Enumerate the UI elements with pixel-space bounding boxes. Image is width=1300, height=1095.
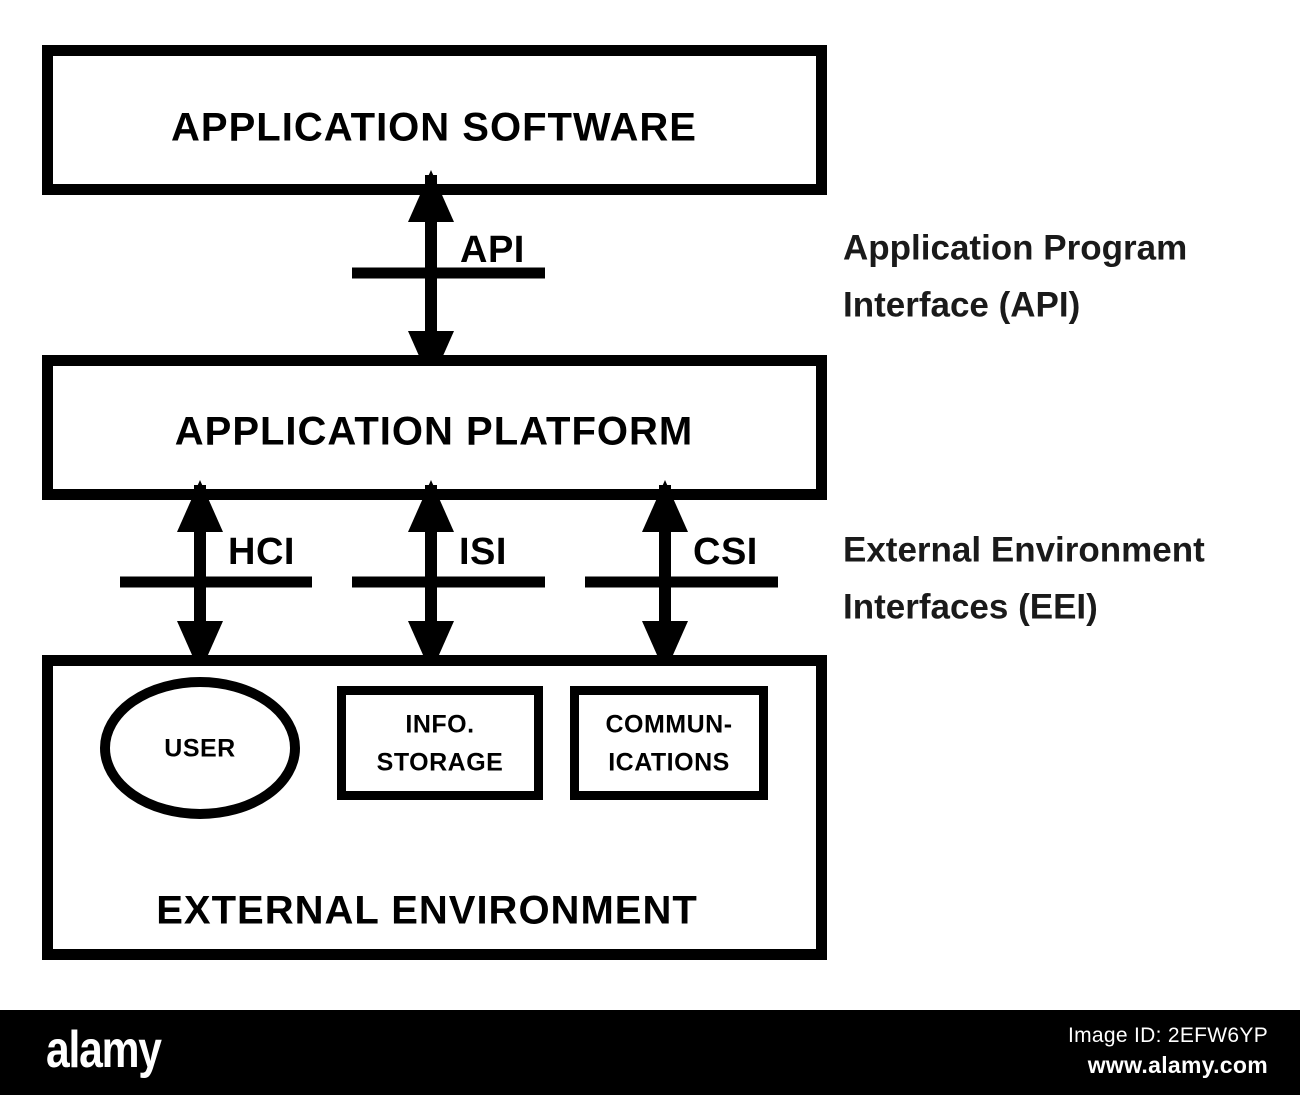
user-label: USER: [164, 735, 235, 763]
application-platform-label: APPLICATION PLATFORM: [175, 410, 693, 454]
external-environment-label: EXTERNAL ENVIRONMENT: [156, 889, 698, 933]
tier-application-platform: APPLICATION PLATFORM: [48, 361, 822, 495]
image-id-text: Image ID: 2EFW6YP: [1068, 1022, 1268, 1050]
eei-annotation-line1: External Environment: [843, 530, 1205, 569]
screenshot-page: APPLICATION SOFTWARE API APPLICATION PLA…: [0, 0, 1300, 1095]
alamy-url-text: www.alamy.com: [1068, 1050, 1268, 1081]
entity-info-storage: INFO. STORAGE: [342, 691, 539, 796]
isi-label: ISI: [459, 531, 507, 573]
annotation-api: Application Program Interface (API): [843, 228, 1187, 324]
info-storage-label-line2: STORAGE: [377, 749, 504, 777]
connector-csi: CSI: [585, 480, 778, 673]
info-storage-box: [342, 691, 539, 796]
entity-communications: COMMUN- ICATIONS: [575, 691, 764, 796]
tier-application-software: APPLICATION SOFTWARE: [48, 51, 822, 190]
alamy-watermark-bar: alamy Image ID: 2EFW6YP www.alamy.com: [0, 1010, 1300, 1095]
info-storage-label-line1: INFO.: [405, 711, 474, 739]
connector-api: API: [352, 170, 545, 383]
connector-hci: HCI: [120, 480, 312, 673]
communications-label-line2: ICATIONS: [608, 749, 730, 777]
osi-reference-model-diagram: APPLICATION SOFTWARE API APPLICATION PLA…: [0, 0, 1300, 1010]
api-annotation-line2: Interface (API): [843, 285, 1080, 324]
alamy-logo: alamy: [46, 1024, 161, 1076]
api-label: API: [460, 229, 525, 271]
connector-isi: ISI: [352, 480, 545, 673]
api-annotation-line1: Application Program: [843, 228, 1187, 267]
communications-label-line1: COMMUN-: [605, 711, 732, 739]
hci-label: HCI: [228, 531, 295, 573]
application-software-label: APPLICATION SOFTWARE: [171, 106, 697, 150]
entity-user: USER: [105, 682, 295, 814]
eei-annotation-line2: Interfaces (EEI): [843, 587, 1098, 626]
annotation-eei: External Environment Interfaces (EEI): [843, 530, 1205, 626]
footer-right-group: Image ID: 2EFW6YP www.alamy.com: [1068, 1022, 1268, 1081]
csi-label: CSI: [693, 531, 758, 573]
communications-box: [575, 691, 764, 796]
tier-external-environment: USER INFO. STORAGE COMMUN- ICATIONS EXTE…: [48, 661, 822, 955]
